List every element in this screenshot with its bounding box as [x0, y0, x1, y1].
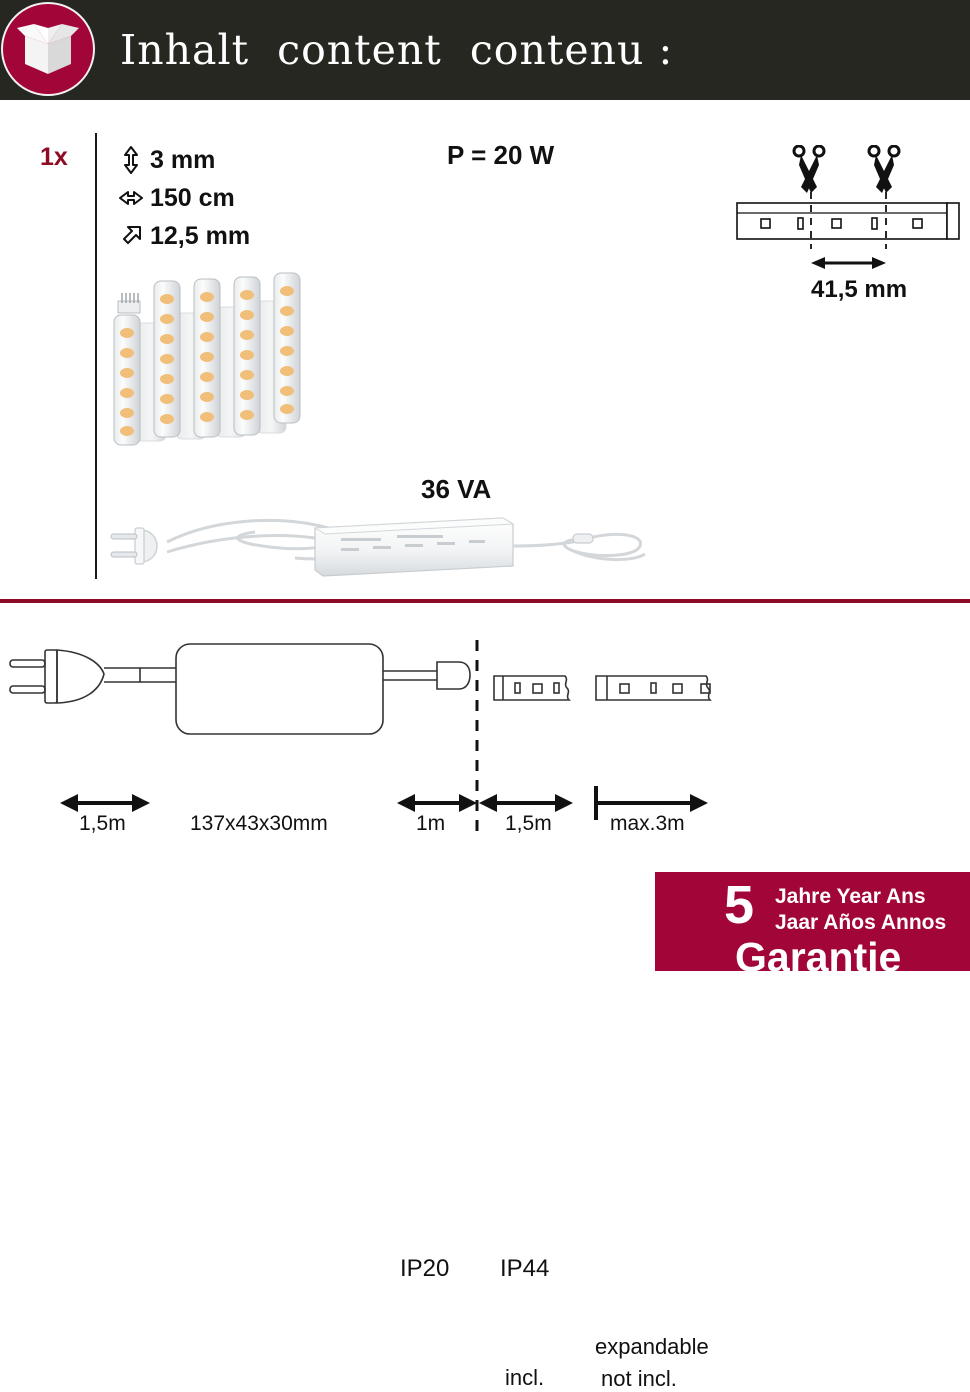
- packaging-content-sheet: Inhalt content contenu : 1x 3 mm 150 cm …: [0, 0, 970, 971]
- spec-row-width: 150 cm: [118, 179, 250, 217]
- open-box-glyph: [3, 4, 93, 94]
- spec-value-width: 150 cm: [150, 184, 235, 213]
- power-supply-photo: [105, 500, 650, 580]
- output-connector: [573, 534, 593, 543]
- cut-pitch-label: 41,5 mm: [811, 276, 907, 303]
- plug-outline-icon: [10, 650, 140, 703]
- system-schematic: IP20 IP44 incl. expandable not incl.: [0, 618, 970, 848]
- driver-outline-icon: [176, 644, 383, 734]
- strip-expandable-icon: [596, 676, 710, 700]
- cut-length-diagram: 41,5 mm: [735, 145, 965, 305]
- dimension-label-strip: 1,5m: [505, 812, 552, 836]
- dimension-label-mains: 1,5m: [79, 812, 126, 836]
- page-title: Inhalt content contenu :: [120, 0, 673, 100]
- scissors-icon: [794, 146, 824, 193]
- dimension-arrow-strip: [479, 794, 573, 812]
- spec-list: 3 mm 150 cm 12,5 mm: [118, 141, 250, 255]
- open-box-icon: [1, 2, 95, 96]
- strip-not-included-label: not incl.: [601, 1366, 677, 1392]
- dimension-label-max: max.3m: [610, 812, 685, 836]
- power-label: P = 20 W: [447, 140, 554, 171]
- warranty-title: Garantie: [735, 934, 901, 971]
- cut-diagram-svg: 41,5 mm: [735, 145, 965, 305]
- width-arrow-icon: [118, 183, 144, 213]
- height-arrow-icon: [118, 145, 144, 175]
- dimension-label-output: 1m: [416, 812, 445, 836]
- strip-segment: [274, 273, 300, 423]
- strip-included-icon: [494, 676, 569, 700]
- quantity-label: 1x: [40, 143, 68, 172]
- warranty-badge: 5 Jahre Year Ans Jaar Años Annos Garanti…: [655, 872, 970, 971]
- strip-expandable-label: expandable: [595, 1334, 709, 1360]
- power-supply-photo-svg: [105, 500, 650, 580]
- dimension-arrow-mains: [60, 794, 150, 812]
- section-divider: [0, 599, 970, 603]
- ip20-label: IP20: [400, 1255, 449, 1283]
- warranty-languages-line2: Jaar Años Annos: [775, 911, 946, 935]
- dimension-label-driver: 137x43x30mm: [190, 812, 328, 836]
- spec-value-diagonal: 12,5 mm: [150, 222, 250, 251]
- warranty-languages-line1: Jahre Year Ans: [775, 885, 926, 909]
- spec-value-height: 3 mm: [150, 146, 215, 175]
- driver-body: [315, 518, 513, 576]
- strip-segment: [234, 277, 260, 435]
- strip-segment: [194, 279, 220, 437]
- strip-included-label: incl.: [505, 1365, 544, 1391]
- connector-outline-icon: [437, 662, 470, 689]
- header-bar: Inhalt content contenu :: [0, 0, 970, 100]
- strip-segment: [154, 281, 180, 437]
- led-strip-photo: [100, 265, 320, 455]
- vertical-divider: [95, 133, 97, 579]
- system-schematic-svg: [0, 618, 970, 848]
- diagonal-arrow-icon: [118, 221, 144, 251]
- euro-plug: [111, 528, 157, 564]
- dimension-arrow-output: [397, 794, 477, 812]
- scissors-icon: [869, 146, 899, 193]
- strip-segment: [114, 293, 140, 445]
- led-strip-outline: [737, 203, 959, 239]
- spec-row-diagonal: 12,5 mm: [118, 217, 250, 255]
- spec-row-height: 3 mm: [118, 141, 250, 179]
- led-strip-photo-svg: [100, 265, 320, 455]
- cut-pitch-arrow: [811, 257, 886, 269]
- warranty-years: 5: [724, 878, 754, 932]
- ip44-label: IP44: [500, 1255, 549, 1283]
